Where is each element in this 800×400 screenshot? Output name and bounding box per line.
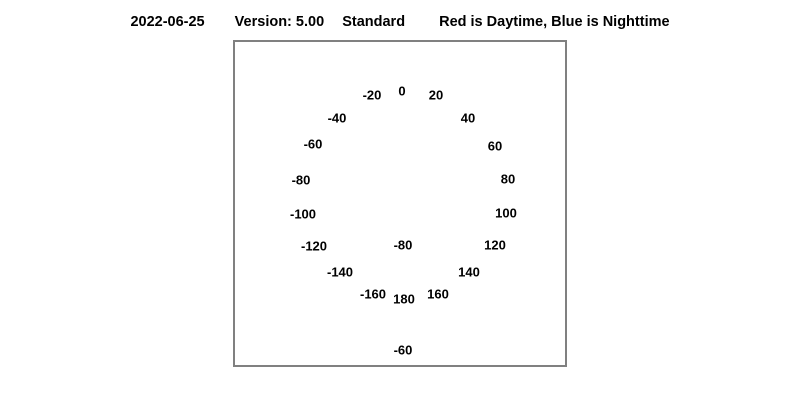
title-date: 2022-06-25 — [130, 14, 204, 30]
title-version: Version: 5.00 — [235, 14, 324, 30]
plot-frame-border — [233, 40, 567, 367]
figure-title: 2022-06-25 Version: 5.00 Standard Red is… — [0, 14, 800, 30]
figure-canvas: 2022-06-25 Version: 5.00 Standard Red is… — [0, 0, 800, 400]
title-mode: Standard — [342, 14, 405, 30]
title-legend: Red is Daytime, Blue is Nighttime — [439, 14, 669, 30]
polar-map-plot: -20 0 20 -40 40 -60 60 -80 80 -100 100 -… — [233, 40, 567, 367]
